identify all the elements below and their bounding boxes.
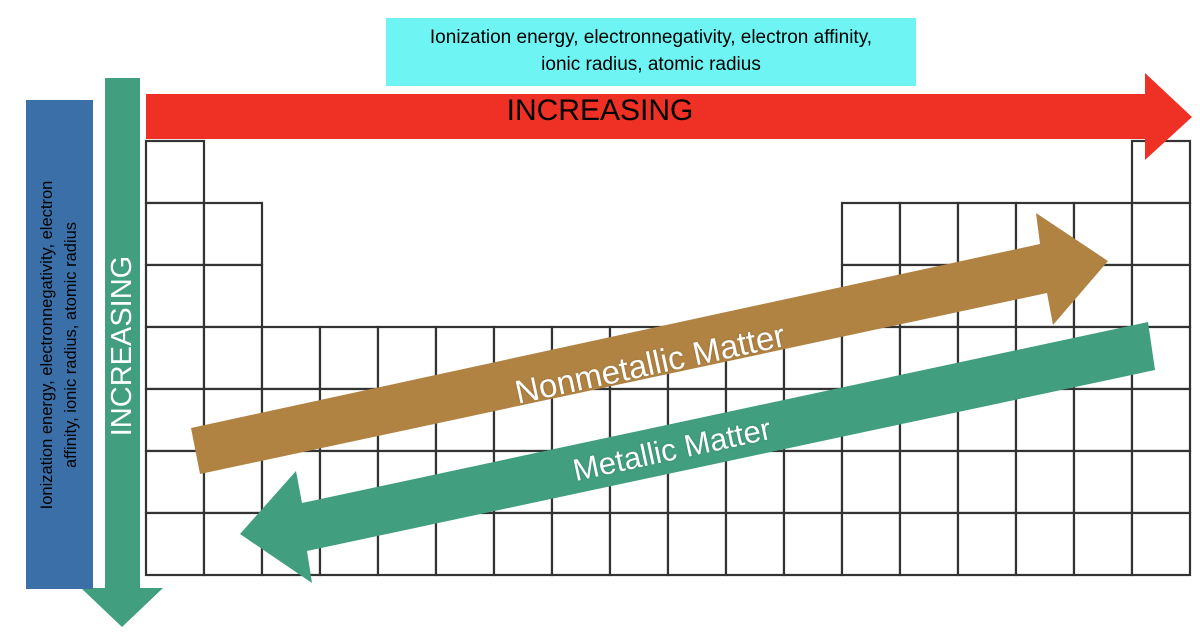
top-caption-text: Ionization energy, electronnegativity, e…	[430, 25, 872, 79]
left-caption-box: Ionization energy, electronnegativity, e…	[26, 100, 93, 589]
left-caption-text: Ionization energy, electronnegativity, e…	[36, 100, 84, 589]
left-caption-line2: affinity, ionic radius, atomic radius	[62, 221, 80, 467]
horizontal-increasing-arrow	[146, 73, 1192, 160]
diagram-canvas: Ionization energy, electronnegativity, e…	[0, 0, 1200, 642]
left-caption-line1: Ionization energy, electronnegativity, e…	[38, 180, 56, 509]
top-caption-line1: Ionization energy, electronnegativity, e…	[430, 27, 872, 48]
top-caption-box: Ionization energy, electronnegativity, e…	[386, 18, 916, 86]
top-caption-line2: ionic radius, atomic radius	[541, 54, 761, 75]
diagram-graphics-layer	[0, 0, 1200, 642]
